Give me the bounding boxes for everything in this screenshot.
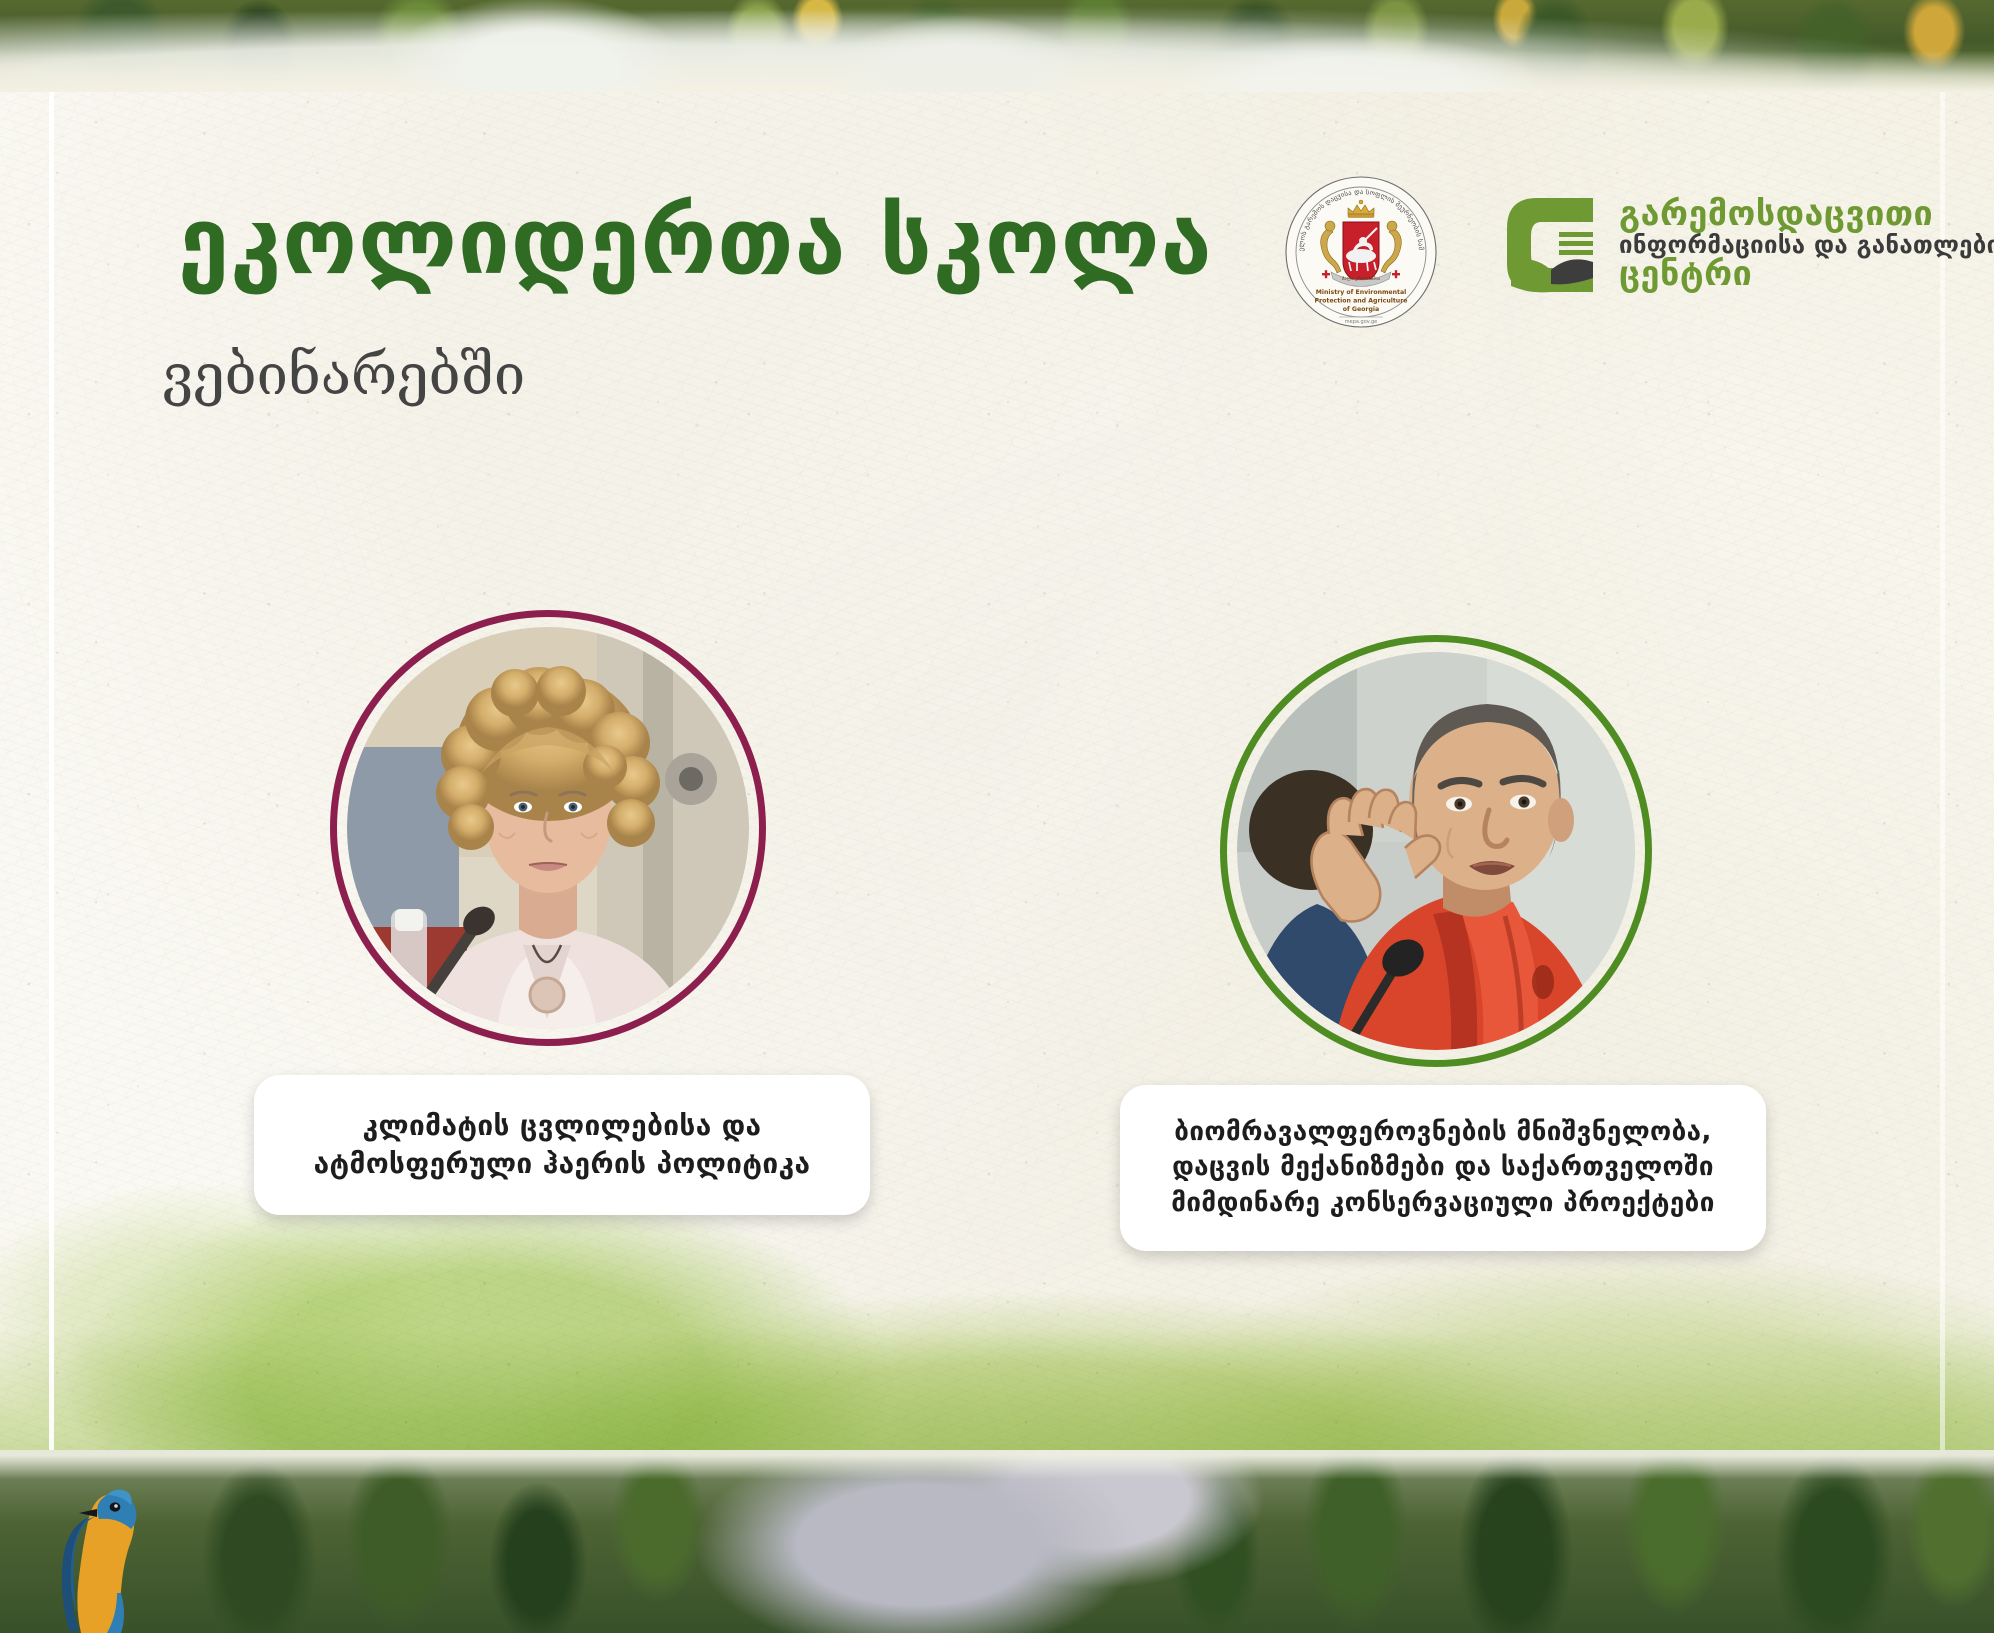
svg-text:ძალა ერთობაშია: ძალა ერთობაშია [1342,275,1381,282]
eiec-line-1: გარემოსდაცვითი [1619,197,1994,232]
svg-text:of Georgia: of Georgia [1343,306,1379,313]
eiec-open-book-icon [1497,192,1605,298]
photo-ring-right [1220,635,1652,1067]
bottom-forest-band [0,1450,1994,1633]
speaker-card-left: კლიმატის ცვლილებისა და ატმოსფერული ჰაერი… [300,580,1060,1340]
bird-icon [55,1473,175,1633]
svg-text:Ministry of Environmental: Ministry of Environmental [1316,289,1407,296]
svg-text:mepa.gov.ge: mepa.gov.ge [1345,319,1377,325]
speaker-topic-box-left: კლიმატის ცვლილებისა და ატმოსფერული ჰაერი… [254,1075,870,1215]
eiec-logo: გარემოსდაცვითი ინფორმაციისა და განათლები… [1497,192,1994,298]
top-forest-band [0,0,1994,92]
ministry-seal-icon: საქართველოს გარემოს დაცვისა და სოფლის მე… [1285,176,1437,328]
speaker-topic-left: კლიმატის ცვლილებისა და ატმოსფერული ჰაერი… [276,1107,848,1182]
bottom-forest-scene [0,1450,1994,1633]
top-forest-mist [0,0,1994,92]
logo-group: საქართველოს გარემოს დაცვისა და სოფლის მე… [1285,176,1985,326]
svg-text:Protection and Agriculture: Protection and Agriculture [1315,298,1408,305]
eiec-line-3: ცენტრი [1619,257,1994,292]
photo-ring-left [330,610,766,1046]
page-subtitle: ვებინარებში [162,348,525,404]
speaker-topic-box-right: ბიომრავალფეროვნების მნიშვნელობა, დაცვის … [1120,1085,1766,1251]
eiec-wordmark: გარემოსდაცვითი ინფორმაციისა და განათლები… [1619,197,1994,293]
frame-line-left [49,92,54,1450]
speaker-topic-right: ბიომრავალფეროვნების მნიშვნელობა, დაცვის … [1142,1115,1744,1221]
page-title: ეკოლიდერთა სკოლა [178,196,1213,288]
speaker-card-right: ბიომრავალფეროვნების მნიშვნელობა, დაცვის … [1190,605,1990,1365]
poster-canvas: ეკოლიდერთა სკოლა ვებინარებში საქართველოს… [0,0,1994,1633]
